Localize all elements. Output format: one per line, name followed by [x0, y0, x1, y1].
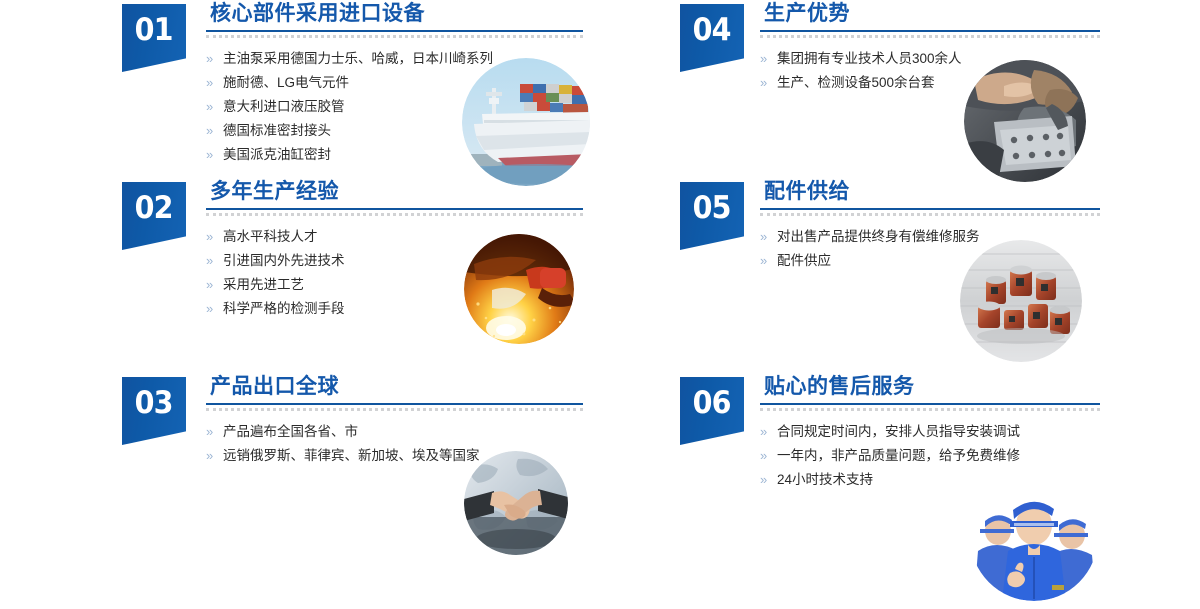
- feature-header: 产品出口全球 »产品遍布全国各省、市 »远销俄罗斯、菲律宾、新加坡、埃及等国家: [206, 373, 590, 468]
- double-chevron-icon: »: [760, 444, 777, 468]
- feature-header: 多年生产经验 »高水平科技人才 »引进国内外先进技术 »采用先进工艺 »科学严格…: [206, 178, 590, 321]
- bullet-text: 主油泵采用德国力士乐、哈威，日本川崎系列: [223, 47, 493, 71]
- badge-number: 06: [693, 388, 731, 419]
- list-item: »集团拥有专业技术人员300余人: [760, 47, 1108, 71]
- double-chevron-icon: »: [760, 249, 777, 273]
- badge-number: 03: [135, 388, 173, 419]
- title-underline-solid: [206, 30, 583, 32]
- double-chevron-icon: »: [206, 143, 223, 167]
- double-chevron-icon: »: [206, 249, 223, 273]
- badge-number: 05: [693, 193, 731, 224]
- list-item: »高水平科技人才: [206, 225, 590, 249]
- double-chevron-icon: »: [760, 47, 777, 71]
- title-underline-dotted: [206, 35, 583, 38]
- number-badge-03: 03: [122, 377, 186, 445]
- title-underline-solid: [760, 30, 1100, 32]
- list-item: »远销俄罗斯、菲律宾、新加坡、埃及等国家: [206, 444, 590, 468]
- feature-card-02: 02 多年生产经验 »高水平科技人才 »引进国内外先进技术 »采用先进工艺 »科…: [110, 178, 590, 368]
- bullet-text: 产品遍布全国各省、市: [223, 420, 358, 444]
- double-chevron-icon: »: [206, 225, 223, 249]
- title-underline-dotted: [760, 213, 1100, 216]
- feature-card-01: 01 核心部件采用进口设备 »主油泵采用德国力士乐、哈威，日本川崎系列 »施耐德…: [110, 0, 590, 190]
- feature-card-03: 03 产品出口全球 »产品遍布全国各省、市 »远销俄罗斯、菲律宾、新加坡、埃及等…: [110, 373, 590, 563]
- number-badge-04: 04: [680, 4, 744, 72]
- feature-title: 核心部件采用进口设备: [206, 0, 590, 28]
- feature-header: 核心部件采用进口设备 »主油泵采用德国力士乐、哈威，日本川崎系列 »施耐德、LG…: [206, 0, 590, 167]
- bullet-text: 美国派克油缸密封: [223, 143, 331, 167]
- list-item: »科学严格的检测手段: [206, 297, 590, 321]
- badge-number: 04: [693, 15, 731, 46]
- bullet-text: 施耐德、LG电气元件: [223, 71, 349, 95]
- list-item: »主油泵采用德国力士乐、哈威，日本川崎系列: [206, 47, 590, 71]
- bullet-text: 高水平科技人才: [223, 225, 318, 249]
- bullet-text: 配件供应: [777, 249, 831, 273]
- feature-card-04: 04 生产优势 »集团拥有专业技术人员300余人 »生产、检测设备500余台套: [668, 0, 1108, 190]
- bullet-text: 远销俄罗斯、菲律宾、新加坡、埃及等国家: [223, 444, 480, 468]
- list-item: »合同规定时间内，安排人员指导安装调试: [760, 420, 1108, 444]
- list-item: »一年内，非产品质量问题，给予免费维修: [760, 444, 1108, 468]
- list-item: »采用先进工艺: [206, 273, 590, 297]
- bullet-text: 对出售产品提供终身有偿维修服务: [777, 225, 980, 249]
- bullet-text: 集团拥有专业技术人员300余人: [777, 47, 962, 71]
- list-item: »美国派克油缸密封: [206, 143, 590, 167]
- bullet-text: 24小时技术支持: [777, 468, 873, 492]
- list-item: »施耐德、LG电气元件: [206, 71, 590, 95]
- feature-bullet-list: »对出售产品提供终身有偿维修服务 »配件供应: [760, 225, 1108, 273]
- list-item: »产品遍布全国各省、市: [206, 420, 590, 444]
- feature-title: 配件供给: [760, 178, 1108, 206]
- list-item: »对出售产品提供终身有偿维修服务: [760, 225, 1108, 249]
- bullet-text: 采用先进工艺: [223, 273, 304, 297]
- title-underline-dotted: [760, 35, 1100, 38]
- feature-bullet-list: »产品遍布全国各省、市 »远销俄罗斯、菲律宾、新加坡、埃及等国家: [206, 420, 590, 468]
- title-underline-solid: [760, 208, 1100, 210]
- number-badge-05: 05: [680, 182, 744, 250]
- double-chevron-icon: »: [760, 468, 777, 492]
- title-underline-solid: [206, 208, 583, 210]
- bullet-text: 科学严格的检测手段: [223, 297, 345, 321]
- title-underline-solid: [206, 403, 583, 405]
- feature-card-06: 06 贴心的售后服务 »合同规定时间内，安排人员指导安装调试 »一年内，非产品质…: [668, 373, 1108, 563]
- bullet-text: 意大利进口液压胶管: [223, 95, 345, 119]
- number-badge-06: 06: [680, 377, 744, 445]
- list-item: »24小时技术支持: [760, 468, 1108, 492]
- double-chevron-icon: »: [206, 420, 223, 444]
- title-underline-dotted: [760, 408, 1100, 411]
- title-underline-dotted: [206, 408, 583, 411]
- feature-bullet-list: »集团拥有专业技术人员300余人 »生产、检测设备500余台套: [760, 47, 1108, 95]
- list-item: »配件供应: [760, 249, 1108, 273]
- feature-title: 贴心的售后服务: [760, 373, 1108, 401]
- feature-card-05: 05 配件供给 »对出售产品提供终身有偿维修服务 »配件供应: [668, 178, 1108, 368]
- double-chevron-icon: »: [760, 420, 777, 444]
- feature-title: 生产优势: [760, 0, 1108, 28]
- number-badge-02: 02: [122, 182, 186, 250]
- badge-number: 02: [135, 193, 173, 224]
- bullet-text: 合同规定时间内，安排人员指导安装调试: [777, 420, 1020, 444]
- feature-bullet-list: »主油泵采用德国力士乐、哈威，日本川崎系列 »施耐德、LG电气元件 »意大利进口…: [206, 47, 590, 167]
- double-chevron-icon: »: [760, 225, 777, 249]
- double-chevron-icon: »: [206, 47, 223, 71]
- title-underline-dotted: [206, 213, 583, 216]
- double-chevron-icon: »: [206, 119, 223, 143]
- double-chevron-icon: »: [206, 444, 223, 468]
- number-badge-01: 01: [122, 4, 186, 72]
- feature-bullet-list: »合同规定时间内，安排人员指导安装调试 »一年内，非产品质量问题，给予免费维修 …: [760, 420, 1108, 492]
- bullet-text: 德国标准密封接头: [223, 119, 331, 143]
- double-chevron-icon: »: [206, 95, 223, 119]
- list-item: »德国标准密封接头: [206, 119, 590, 143]
- bullet-text: 一年内，非产品质量问题，给予免费维修: [777, 444, 1020, 468]
- feature-header: 生产优势 »集团拥有专业技术人员300余人 »生产、检测设备500余台套: [760, 0, 1108, 95]
- list-item: »意大利进口液压胶管: [206, 95, 590, 119]
- double-chevron-icon: »: [206, 297, 223, 321]
- feature-header: 贴心的售后服务 »合同规定时间内，安排人员指导安装调试 »一年内，非产品质量问题…: [760, 373, 1108, 492]
- service-workers-photo: [970, 473, 1098, 601]
- list-item: »生产、检测设备500余台套: [760, 71, 1108, 95]
- double-chevron-icon: »: [206, 273, 223, 297]
- list-item: »引进国内外先进技术: [206, 249, 590, 273]
- double-chevron-icon: »: [206, 71, 223, 95]
- bullet-text: 引进国内外先进技术: [223, 249, 345, 273]
- feature-bullet-list: »高水平科技人才 »引进国内外先进技术 »采用先进工艺 »科学严格的检测手段: [206, 225, 590, 321]
- title-underline-solid: [760, 403, 1100, 405]
- feature-header: 配件供给 »对出售产品提供终身有偿维修服务 »配件供应: [760, 178, 1108, 273]
- bullet-text: 生产、检测设备500余台套: [777, 71, 935, 95]
- feature-title: 产品出口全球: [206, 373, 590, 401]
- features-page: 01 核心部件采用进口设备 »主油泵采用德国力士乐、哈威，日本川崎系列 »施耐德…: [0, 0, 1200, 609]
- double-chevron-icon: »: [760, 71, 777, 95]
- badge-number: 01: [135, 15, 173, 46]
